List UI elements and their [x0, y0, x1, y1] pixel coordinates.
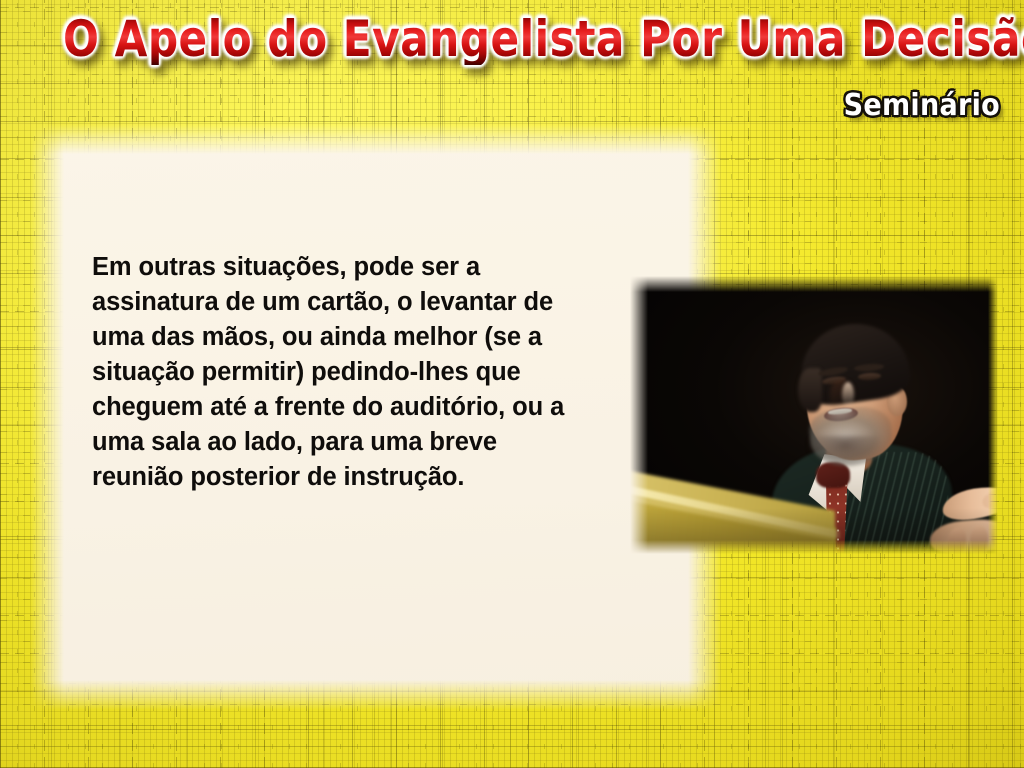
- body-paragraph: Em outras situações, pode ser a assinatu…: [92, 250, 592, 495]
- photo-nose-highlight: [842, 382, 854, 408]
- photo-jaw-shadow: [808, 436, 882, 466]
- presentation-slide: O Apelo do Evangelista Por Uma Decisão S…: [0, 0, 1024, 768]
- page-subtitle: Seminário: [844, 88, 1000, 123]
- subtitle-block: Seminário: [0, 88, 1000, 123]
- preacher-at-podium-photo: [630, 276, 998, 554]
- page-title: O Apelo do Evangelista Por Uma Decisão: [63, 14, 1024, 65]
- title-block: O Apelo do Evangelista Por Uma Decisão: [0, 14, 1004, 65]
- photo-bottom-shading: [630, 508, 998, 554]
